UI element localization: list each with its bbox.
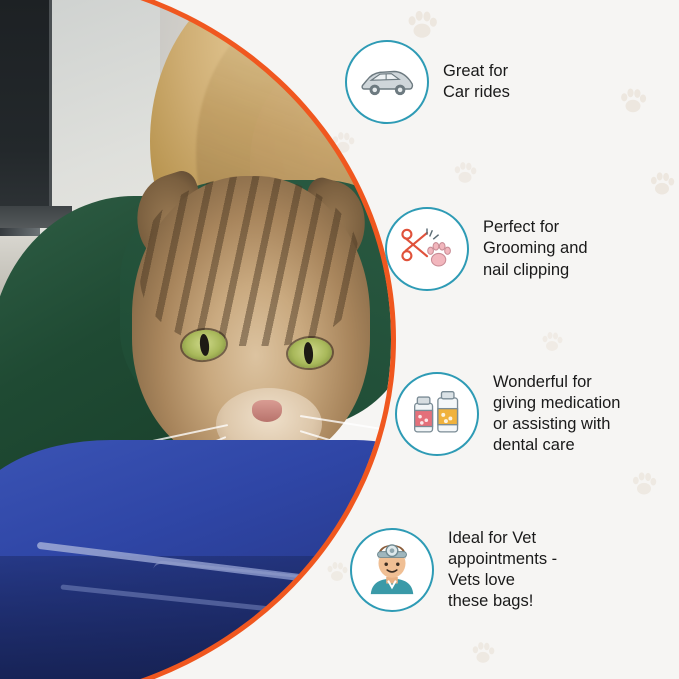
feature-item-medication: Wonderful for giving medication or assis… xyxy=(395,372,621,456)
feature-text: Wonderful for giving medication or assis… xyxy=(493,372,621,456)
feature-item-vet-appointments: Ideal for Vet appointments - Vets love t… xyxy=(350,528,557,612)
feature-icon-badge xyxy=(385,207,469,291)
veterinarian-icon xyxy=(363,542,421,598)
feature-icon-badge xyxy=(345,40,429,124)
product-infographic: Great for Car rides xyxy=(0,0,679,679)
photo-monitor xyxy=(0,0,52,215)
photo-cat-nose xyxy=(252,400,282,422)
feature-text: Great for Car rides xyxy=(443,61,510,103)
feature-text: Perfect for Grooming and nail clipping xyxy=(483,217,588,280)
feature-item-grooming: Perfect for Grooming and nail clipping xyxy=(385,207,588,291)
feature-icon-badge xyxy=(395,372,479,456)
photo-cat-stripes xyxy=(140,176,360,346)
feature-item-car-rides: Great for Car rides xyxy=(345,40,510,124)
feature-list: Great for Car rides xyxy=(330,0,679,679)
scissors-and-paw-icon xyxy=(400,224,454,274)
feature-text: Ideal for Vet appointments - Vets love t… xyxy=(448,528,557,612)
medication-bottles-icon xyxy=(409,389,465,439)
feature-icon-badge xyxy=(350,528,434,612)
car-icon xyxy=(359,65,415,99)
